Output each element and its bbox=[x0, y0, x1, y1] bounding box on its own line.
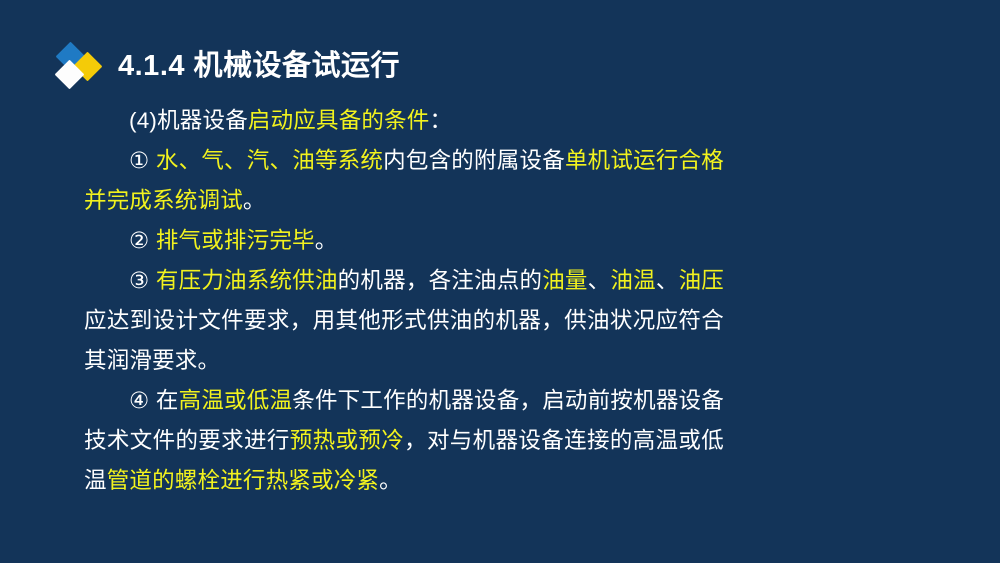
paragraph-intro: (4)机器设备启动应具备的条件： bbox=[84, 101, 724, 141]
paragraph-item-3: ③ 有压力油系统供油的机器，各注油点的油量、油温、油压应达到设计文件要求，用其他… bbox=[84, 261, 724, 381]
paragraph-item-2-run-0: ② bbox=[129, 228, 156, 253]
slide-root: 4.1.4 机械设备试运行 (4)机器设备启动应具备的条件： ① 水、气、汽、油… bbox=[0, 0, 1000, 563]
paragraph-intro-run-1: 启动应具备的条件 bbox=[248, 108, 430, 133]
paragraph-item-4-run-1: 高温或低温 bbox=[179, 388, 293, 413]
paragraph-item-3-run-3: 油量 bbox=[542, 268, 587, 293]
paragraph-item-4-run-0: ④ 在 bbox=[129, 388, 179, 413]
paragraph-item-3-run-6: 、 bbox=[656, 268, 679, 293]
paragraph-item-2: ② 排气或排污完毕。 bbox=[84, 221, 724, 261]
paragraph-item-1: ① 水、气、汽、油等系统内包含的附属设备单机试运行合格并完成系统调试。 bbox=[84, 141, 724, 221]
paragraph-item-3-run-8: 应达到设计文件要求，用其他形式供油的机器，供油状况应符合其润滑要求。 bbox=[84, 308, 724, 373]
three-diamond-logo-icon bbox=[52, 40, 104, 92]
paragraph-item-1-run-0: ① bbox=[129, 148, 156, 173]
paragraph-item-3-run-7: 油压 bbox=[679, 268, 724, 293]
paragraph-item-3-run-1: 有压力油系统供油 bbox=[156, 268, 338, 293]
page-title: 4.1.4 机械设备试运行 bbox=[118, 52, 400, 81]
paragraph-item-4-run-6: 。 bbox=[379, 468, 402, 493]
paragraph-item-1-run-4: 。 bbox=[243, 188, 266, 213]
paragraph-item-4: ④ 在高温或低温条件下工作的机器设备，启动前按机器设备技术文件的要求进行预热或预… bbox=[84, 381, 724, 501]
paragraph-item-3-run-5: 油温 bbox=[610, 268, 655, 293]
paragraph-item-2-run-1: 排气或排污完毕 bbox=[156, 228, 315, 253]
paragraph-item-1-run-2: 内包含的附属设备 bbox=[383, 148, 565, 173]
paragraph-intro-run-0: (4)机器设备 bbox=[129, 108, 248, 133]
paragraph-item-2-run-2: 。 bbox=[315, 228, 338, 253]
paragraph-item-3-run-2: 的机器，各注油点的 bbox=[338, 268, 543, 293]
paragraph-item-4-run-5: 管道的螺栓进行热紧或冷紧 bbox=[107, 468, 379, 493]
slide-body: (4)机器设备启动应具备的条件： ① 水、气、汽、油等系统内包含的附属设备单机试… bbox=[84, 101, 724, 501]
slide-header: 4.1.4 机械设备试运行 bbox=[52, 38, 400, 94]
paragraph-item-1-run-1: 水、气、汽、油等系统 bbox=[156, 148, 383, 173]
paragraph-item-3-run-0: ③ bbox=[129, 268, 156, 293]
paragraph-item-3-run-4: 、 bbox=[588, 268, 611, 293]
paragraph-intro-run-2: ： bbox=[430, 108, 453, 133]
paragraph-item-4-run-3: 预热或预冷 bbox=[290, 428, 404, 453]
